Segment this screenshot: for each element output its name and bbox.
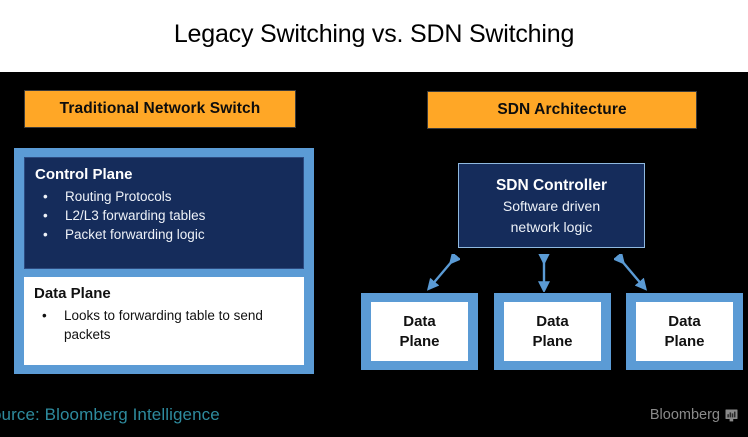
list-item-label: L2/L3 forwarding tables bbox=[65, 208, 205, 223]
data-plane-node-inner: Data Plane bbox=[371, 302, 468, 361]
data-plane-title: Data Plane bbox=[34, 285, 294, 304]
list-item-label: Packet forwarding logic bbox=[65, 227, 205, 242]
title-band: Legacy Switching vs. SDN Switching bbox=[0, 0, 748, 72]
data-plane-bullet-list: • Looks to forwarding table to send pack… bbox=[34, 306, 294, 344]
page-title: Legacy Switching vs. SDN Switching bbox=[0, 20, 748, 49]
section-header-sdn-architecture: SDN Architecture bbox=[427, 91, 697, 129]
control-plane-box: Control Plane • Routing Protocols • L2/L… bbox=[24, 157, 304, 269]
sdn-controller-subtitle-line1: Software driven bbox=[503, 196, 600, 216]
list-item: • Routing Protocols bbox=[41, 187, 293, 206]
bullet-icon: • bbox=[43, 187, 48, 206]
data-plane-box: Data Plane • Looks to forwarding table t… bbox=[24, 277, 304, 365]
bloomberg-wordmark: Bloomberg bbox=[650, 407, 720, 423]
data-plane-node-inner: Data Plane bbox=[504, 302, 601, 361]
data-plane-node: Data Plane bbox=[361, 293, 478, 370]
diagram-canvas: Traditional Network Switch Control Plane… bbox=[0, 72, 748, 437]
data-plane-node-label-line2: Plane bbox=[532, 332, 572, 352]
data-plane-node: Data Plane bbox=[626, 293, 743, 370]
connector-arrow-center bbox=[534, 254, 554, 292]
data-plane-node-label-line2: Plane bbox=[664, 332, 704, 352]
source-attribution: ource: Bloomberg Intelligence bbox=[0, 405, 220, 425]
data-plane-node-inner: Data Plane bbox=[636, 302, 733, 361]
list-item: • Looks to forwarding table to send pack… bbox=[40, 306, 294, 344]
list-item: • Packet forwarding logic bbox=[41, 225, 293, 244]
list-item: • L2/L3 forwarding tables bbox=[41, 206, 293, 225]
connector-arrow-right bbox=[614, 254, 650, 292]
sdn-controller-box: SDN Controller Software driven network l… bbox=[458, 163, 645, 248]
data-plane-node: Data Plane bbox=[494, 293, 611, 370]
bloomberg-branding: Bloomberg bbox=[650, 407, 738, 423]
sdn-controller-subtitle-line2: network logic bbox=[511, 217, 593, 237]
list-item-label: Routing Protocols bbox=[65, 189, 172, 204]
data-plane-node-label-line1: Data bbox=[668, 312, 701, 332]
sdn-controller-title: SDN Controller bbox=[496, 176, 607, 196]
section-header-traditional-network-switch: Traditional Network Switch bbox=[24, 90, 296, 128]
traditional-switch-frame: Control Plane • Routing Protocols • L2/L… bbox=[14, 148, 314, 374]
control-plane-title: Control Plane bbox=[35, 166, 293, 185]
bullet-icon: • bbox=[43, 225, 48, 244]
control-plane-bullet-list: • Routing Protocols • L2/L3 forwarding t… bbox=[35, 187, 293, 244]
data-plane-node-label-line1: Data bbox=[403, 312, 436, 332]
data-plane-node-label-line1: Data bbox=[536, 312, 569, 332]
bullet-icon: • bbox=[43, 206, 48, 225]
list-item-label: Looks to forwarding table to send packet… bbox=[64, 308, 263, 342]
data-plane-node-label-line2: Plane bbox=[399, 332, 439, 352]
connector-arrow-left bbox=[424, 254, 460, 292]
bloomberg-terminal-icon bbox=[725, 409, 738, 422]
bullet-icon: • bbox=[42, 306, 47, 325]
